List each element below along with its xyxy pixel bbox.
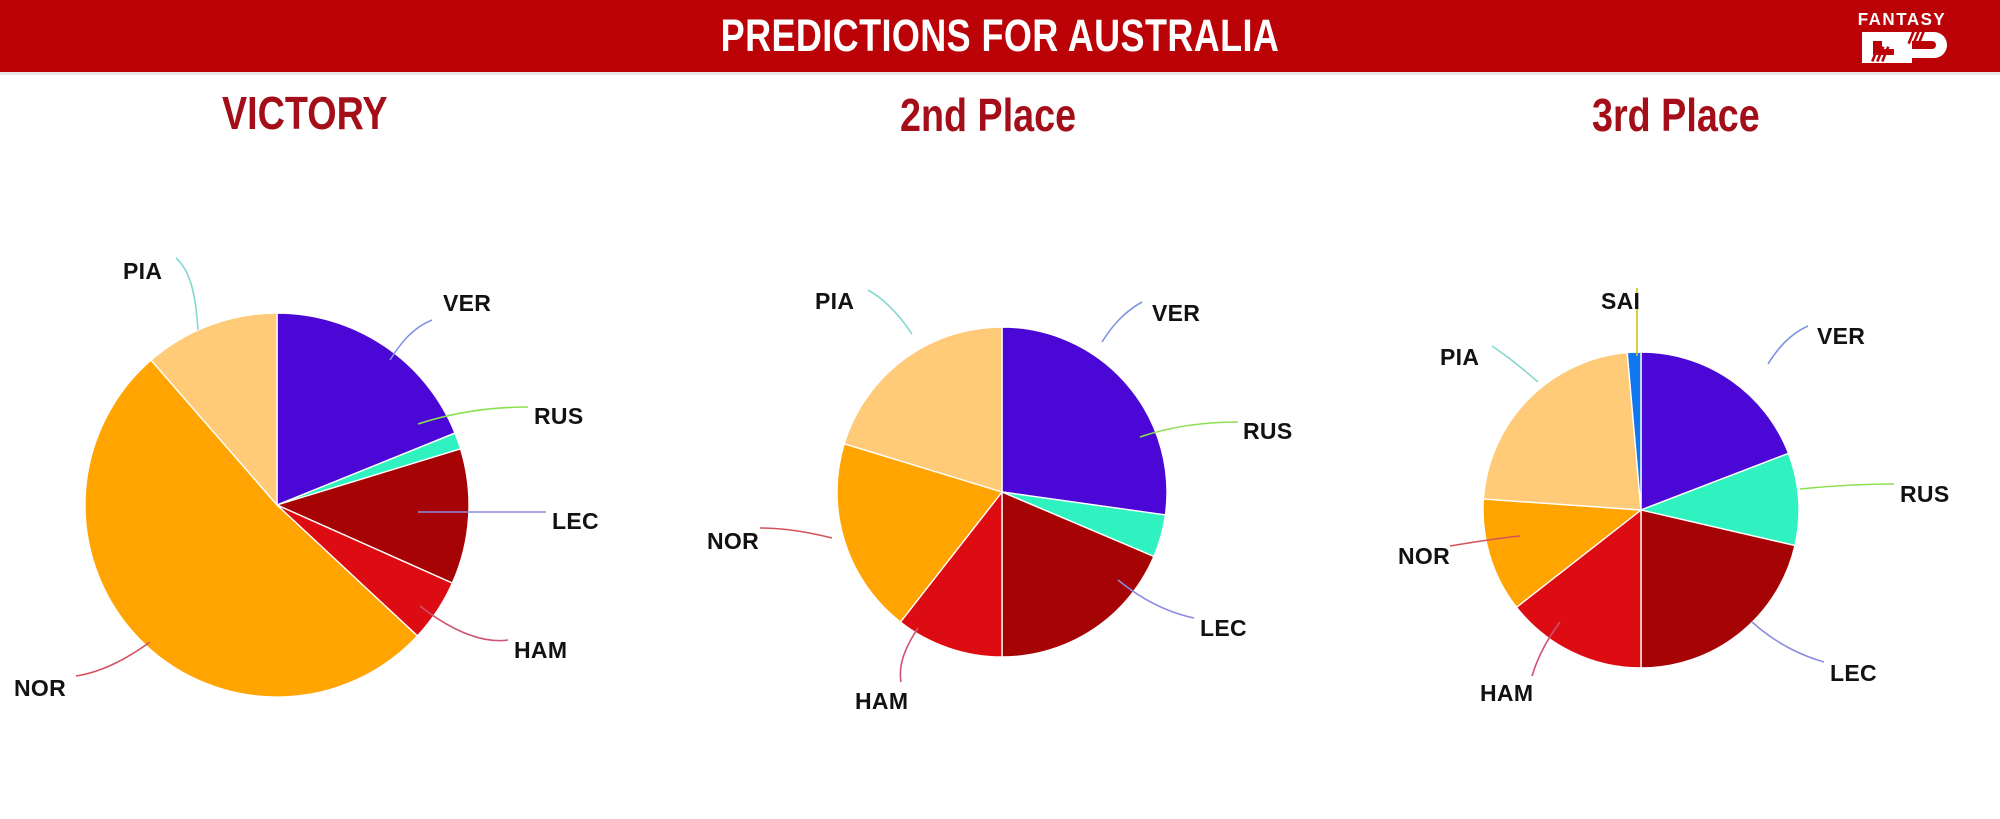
slice-label-ver-chart2: VER <box>1152 300 1200 327</box>
slice-label-ham-chart1: HAM <box>514 637 567 664</box>
slice-label-pia-chart2: PIA <box>815 288 854 315</box>
leader-line-ver <box>1768 326 1808 364</box>
screenshot-root: PREDICTIONS FOR AUSTRALIA FANTASY <box>0 0 2000 819</box>
pie-chart-1 <box>85 313 469 697</box>
leader-line-pia <box>1492 346 1538 382</box>
slice-label-lec-chart1: LEC <box>552 508 599 535</box>
slice-label-ham-chart2: HAM <box>855 688 908 715</box>
pie-charts-canvas <box>0 0 2000 819</box>
leader-line-rus <box>1800 484 1894 489</box>
slice-label-ver-chart3: VER <box>1817 323 1865 350</box>
slice-label-rus-chart3: RUS <box>1900 481 1949 508</box>
leader-line-pia <box>176 258 198 330</box>
leader-line-nor <box>760 528 832 538</box>
slice-label-rus-chart2: RUS <box>1243 418 1292 445</box>
slice-label-nor-chart2: NOR <box>707 528 759 555</box>
pie-slice-ver[interactable] <box>1002 327 1167 515</box>
leader-line-ham <box>900 628 918 682</box>
pie-slice-pia[interactable] <box>1483 353 1641 510</box>
pie-chart-2 <box>837 327 1167 657</box>
slice-label-lec-chart2: LEC <box>1200 615 1247 642</box>
slice-label-lec-chart3: LEC <box>1830 660 1877 687</box>
slice-label-pia-chart1: PIA <box>123 258 162 285</box>
leader-line-ver <box>1102 302 1142 342</box>
leader-line-nor <box>76 642 150 676</box>
slice-label-sai-chart3: SAI <box>1601 288 1640 315</box>
leader-line-pia <box>868 290 912 334</box>
slice-label-pia-chart3: PIA <box>1440 344 1479 371</box>
slice-label-rus-chart1: RUS <box>534 403 583 430</box>
leader-line-lec <box>1752 622 1824 662</box>
slice-label-ham-chart3: HAM <box>1480 680 1533 707</box>
slice-label-nor-chart1: NOR <box>14 675 66 702</box>
pie-chart-3 <box>1483 352 1799 668</box>
slice-label-nor-chart3: NOR <box>1398 543 1450 570</box>
slice-label-ver-chart1: VER <box>443 290 491 317</box>
